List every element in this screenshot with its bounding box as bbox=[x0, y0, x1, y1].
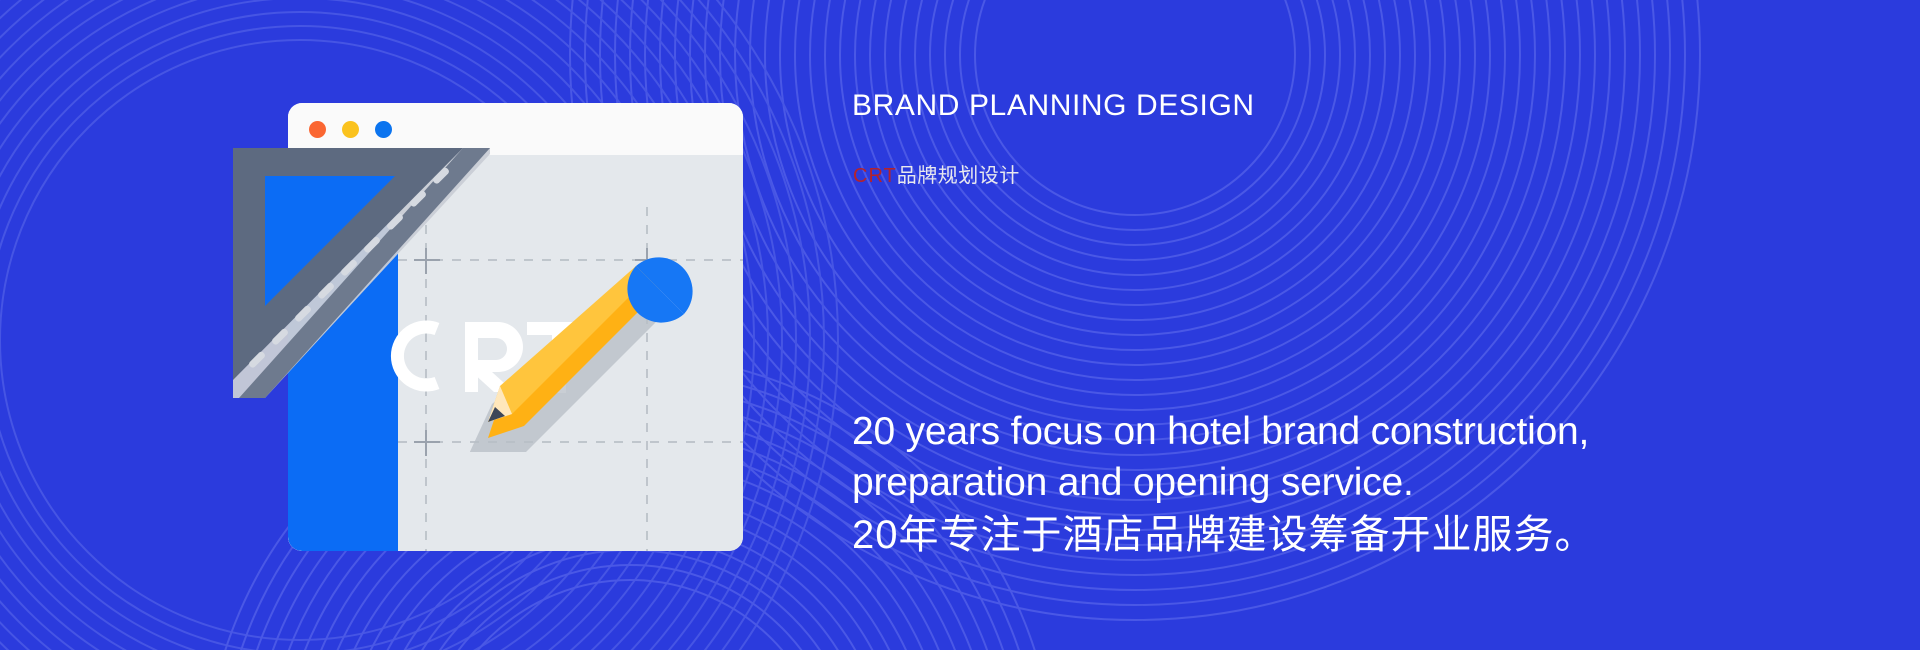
banner-copy: BRAND PLANNING DESIGN CRT品牌规划设计 20 years… bbox=[852, 0, 1852, 650]
kicker-chinese-label: 品牌规划设计 bbox=[897, 165, 1020, 187]
headline-english: 20 years focus on hotel brand constructi… bbox=[852, 406, 1682, 508]
design-illustration bbox=[0, 0, 900, 650]
kicker-english: BRAND PLANNING DESIGN bbox=[852, 88, 1412, 123]
minimize-dot[interactable] bbox=[342, 121, 359, 138]
pencil-icon bbox=[470, 222, 700, 452]
close-dot[interactable] bbox=[309, 121, 326, 138]
kicker-brand-mark: CRT bbox=[853, 165, 897, 187]
kicker-chinese: CRT品牌规划设计 bbox=[853, 164, 1020, 188]
triangle-ruler-icon bbox=[225, 148, 490, 398]
brand-banner: BRAND PLANNING DESIGN CRT品牌规划设计 20 years… bbox=[0, 0, 1920, 650]
headline-chinese: 20年专注于酒店品牌建设筹备开业服务。 bbox=[852, 508, 1682, 562]
maximize-dot[interactable] bbox=[375, 121, 392, 138]
